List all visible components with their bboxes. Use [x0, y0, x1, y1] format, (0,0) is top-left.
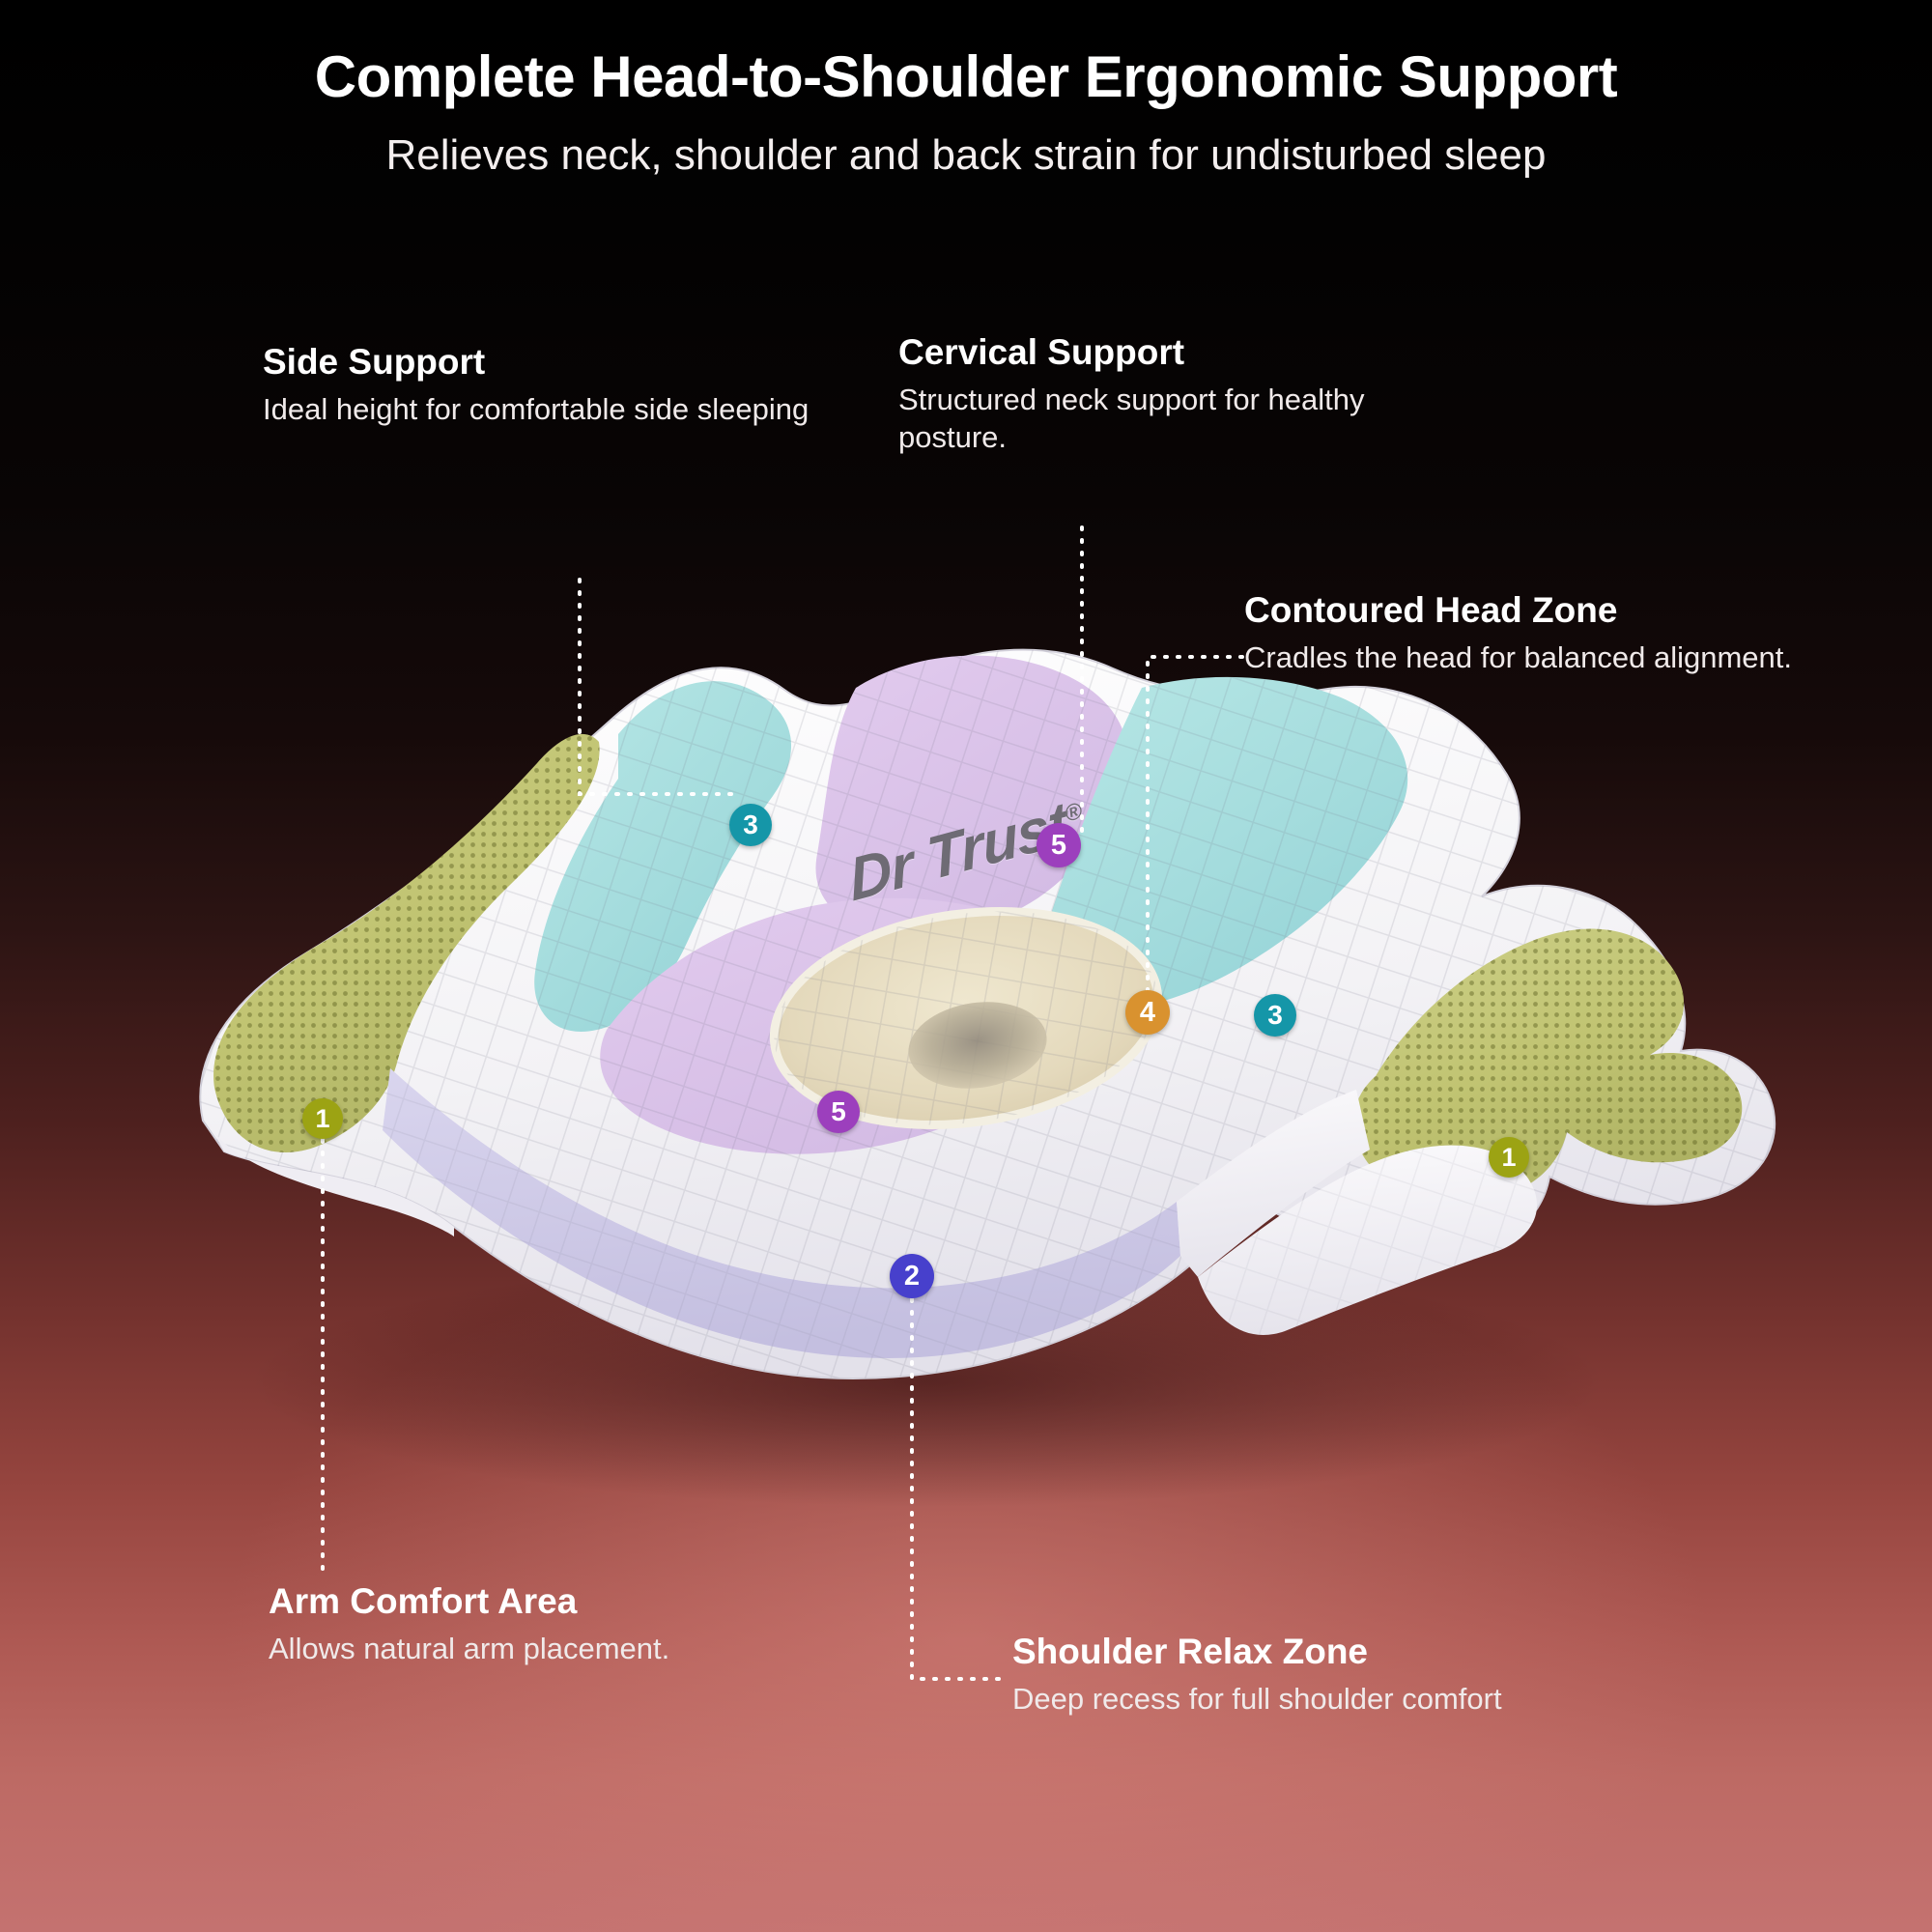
callout-description: Ideal height for comfortable side sleepi… — [263, 390, 823, 428]
callout-title: Contoured Head Zone — [1244, 591, 1911, 630]
zone-badge-2: 2 — [890, 1254, 934, 1298]
zone-badge-5: 5 — [1037, 823, 1081, 867]
callout-title: Shoulder Relax Zone — [1012, 1633, 1631, 1671]
zone-badge-3: 3 — [1254, 994, 1296, 1037]
callout-arm-comfort-area: Arm Comfort Area Allows natural arm plac… — [269, 1582, 781, 1667]
callout-description: Structured neck support for healthy post… — [898, 381, 1439, 456]
infographic-canvas: Complete Head-to-Shoulder Ergonomic Supp… — [0, 0, 1932, 1932]
zone-badge-3: 3 — [729, 804, 772, 846]
zone-badge-1: 1 — [302, 1098, 343, 1139]
callout-title: Cervical Support — [898, 333, 1439, 372]
head-zone-leader — [1148, 657, 1242, 995]
callout-side-support: Side Support Ideal height for comfortabl… — [263, 343, 823, 428]
callout-description: Deep recess for full shoulder comfort — [1012, 1680, 1631, 1718]
shoulder-relax-leader — [912, 1299, 1005, 1679]
callout-title: Arm Comfort Area — [269, 1582, 781, 1621]
callout-description: Allows natural arm placement. — [269, 1630, 781, 1667]
callout-shoulder-relax-zone: Shoulder Relax Zone Deep recess for full… — [1012, 1633, 1631, 1718]
callout-description: Cradles the head for balanced alignment. — [1244, 639, 1911, 676]
zone-badge-1: 1 — [1489, 1137, 1529, 1178]
side-support-leader — [580, 580, 731, 794]
zone-badge-4: 4 — [1125, 990, 1170, 1035]
zone-badge-5: 5 — [817, 1091, 860, 1133]
callout-cervical-support: Cervical Support Structured neck support… — [898, 333, 1439, 456]
callout-contoured-head-zone: Contoured Head Zone Cradles the head for… — [1244, 591, 1911, 676]
callout-title: Side Support — [263, 343, 823, 382]
